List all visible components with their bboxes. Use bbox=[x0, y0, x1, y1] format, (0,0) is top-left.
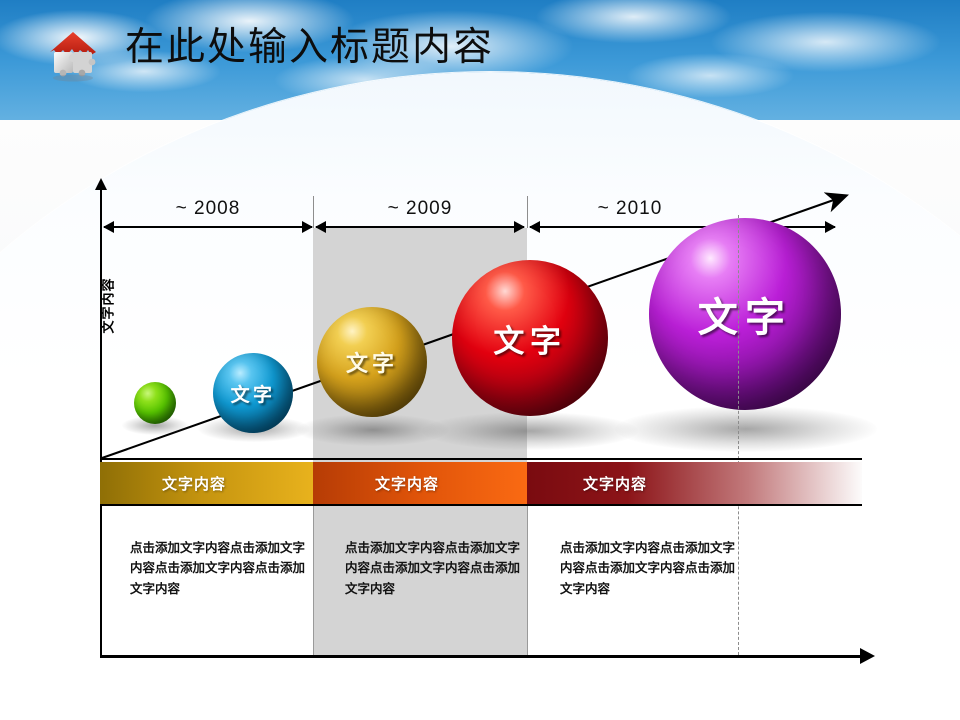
bubble-label: 文字 bbox=[317, 307, 427, 417]
band-top-rule bbox=[100, 458, 862, 460]
bubble-blue[interactable]: 文字 bbox=[213, 353, 293, 433]
x-axis-arrow-icon bbox=[860, 648, 875, 664]
description-column-2008: 点击添加文字内容点击添加文字内容点击添加文字内容点击添加文字内容 bbox=[130, 538, 310, 599]
bubble-label: 文字 bbox=[452, 260, 608, 416]
bubble-gold[interactable]: 文字 bbox=[317, 307, 427, 417]
column-divider bbox=[527, 506, 528, 655]
x-axis bbox=[100, 655, 862, 658]
slide-canvas: 2470 3500 70 bbox=[0, 0, 960, 720]
bubble-label: 文字 bbox=[649, 218, 841, 410]
chart-area: 文字内容 ~ 2008 ~ 2009 ~ 2010 文字 bbox=[0, 0, 960, 720]
band-2009[interactable]: 文字内容 bbox=[313, 462, 527, 504]
column-divider bbox=[313, 506, 314, 655]
sphere-shadow bbox=[422, 412, 638, 450]
description-column-2010: 点击添加文字内容点击添加文字内容点击添加文字内容点击添加文字内容 bbox=[560, 538, 740, 599]
band-label: 文字内容 bbox=[375, 473, 439, 494]
sphere-shadow bbox=[615, 406, 877, 452]
band-2010[interactable]: 文字内容 bbox=[527, 462, 862, 504]
bubble-red[interactable]: 文字 bbox=[452, 260, 608, 416]
band-2008[interactable]: 文字内容 bbox=[100, 462, 313, 504]
band-label: 文字内容 bbox=[162, 473, 226, 494]
band-bottom-rule bbox=[100, 504, 862, 506]
bubble-label: 文字 bbox=[213, 353, 293, 433]
bubble-green[interactable] bbox=[134, 382, 176, 424]
description-column-2009: 点击添加文字内容点击添加文字内容点击添加文字内容点击添加文字内容 bbox=[345, 538, 525, 599]
band-label: 文字内容 bbox=[583, 473, 647, 494]
bubble-purple[interactable]: 文字 bbox=[649, 218, 841, 410]
